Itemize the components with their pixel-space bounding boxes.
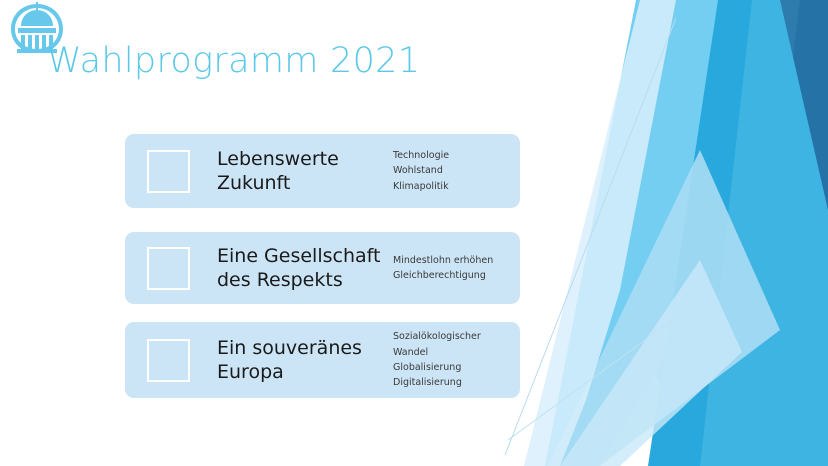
card-heading: Lebenswerte Zukunft (217, 147, 389, 196)
bg-shape-dark-steel (648, 0, 828, 466)
card-heading: Ein souveränes Europa (217, 336, 389, 385)
card-heading-line: Zukunft (217, 171, 389, 195)
card-keyword: Klimapolitik (393, 179, 520, 194)
card-keyword: Sozialökologischer (393, 329, 520, 344)
card-keyword: Globalisierung (393, 360, 520, 375)
card-keyword: Mindestlohn erhöhen (393, 253, 520, 268)
content-card[interactable]: Lebenswerte Zukunft Technologie Wohlstan… (125, 134, 520, 208)
card-keyword: Wohlstand (393, 163, 520, 178)
card-heading-line: des Respekts (217, 268, 389, 292)
image-placeholder-icon[interactable] (147, 247, 190, 290)
bg-shape-light-sky (545, 0, 752, 466)
bg-shape-mid-blue (648, 0, 828, 466)
card-keyword: Wandel (393, 345, 520, 360)
bg-hairline-short (508, 300, 700, 440)
image-placeholder-icon[interactable] (147, 150, 190, 193)
content-card[interactable]: Ein souveränes Europa Sozialökologischer… (125, 322, 520, 398)
bg-shape-pale-sky (548, 150, 780, 466)
card-keyword-list: Technologie Wohlstand Klimapolitik (393, 148, 520, 194)
card-keyword: Digitalisierung (393, 375, 520, 390)
card-heading-line: Lebenswerte (217, 147, 389, 171)
bg-shape-very-pale (524, 0, 676, 466)
card-keyword-list: Mindestlohn erhöhen Gleichberechtigung (393, 253, 520, 284)
content-card[interactable]: Eine Gesellschaft des Respekts Mindestlo… (125, 232, 520, 304)
card-heading: Eine Gesellschaft des Respekts (217, 244, 389, 293)
bg-shape-pale-lower (560, 260, 742, 466)
card-heading-line: Ein souveränes (217, 336, 389, 360)
bg-shape-blue (700, 0, 828, 466)
card-keyword-list: Sozialökologischer Wandel Globalisierung… (393, 329, 520, 391)
card-keyword: Technologie (393, 148, 520, 163)
page-title: Wahlprogramm 2021 (47, 41, 420, 81)
card-keyword: Gleichberechtigung (393, 268, 520, 283)
presentation-slide: Wahlprogramm 2021 Lebenswerte Zukunft Te… (0, 0, 828, 466)
image-placeholder-icon[interactable] (147, 339, 190, 382)
bg-shape-deep-blue (760, 0, 828, 330)
card-heading-line: Eine Gesellschaft (217, 244, 389, 268)
card-heading-line: Europa (217, 360, 389, 384)
bg-hairline-long (505, 18, 676, 455)
